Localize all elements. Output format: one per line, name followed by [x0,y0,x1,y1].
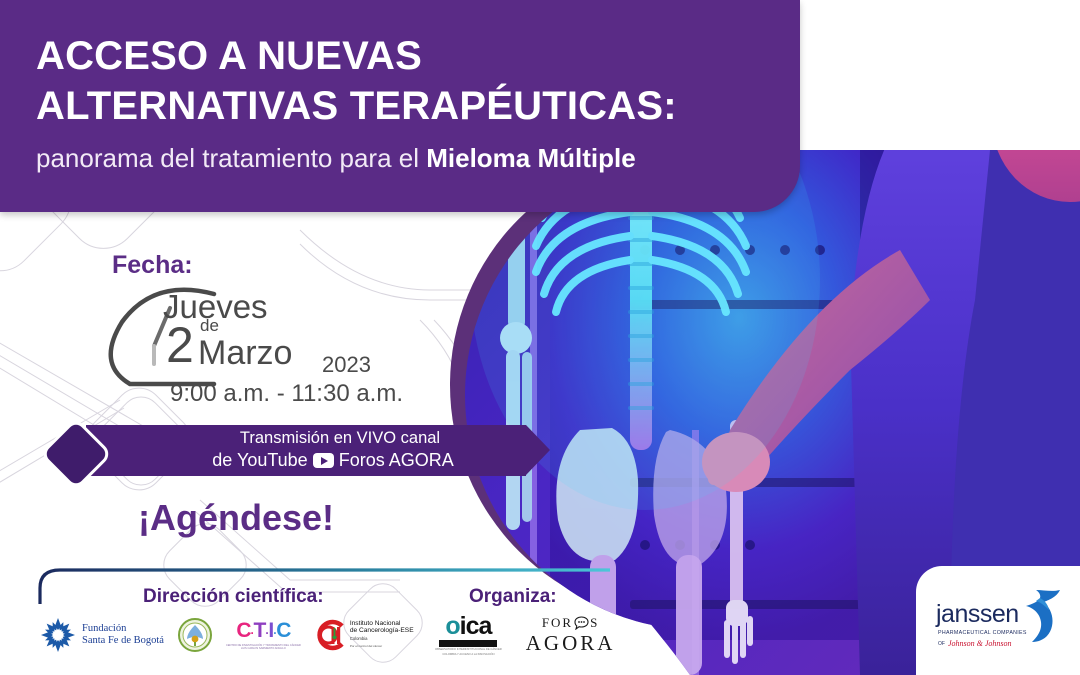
oica-subtitle-1: OBSERVATORIO INTERINSTITUCIONAL DE CÁNCE… [435,648,502,651]
date-year: 2023 [322,352,371,378]
header-banner: ACCESO A NUEVAS ALTERNATIVAS TERAPÉUTICA… [0,0,800,212]
date-day-number: 2 [166,320,194,370]
foros-bottom-word: AGORA [526,631,616,656]
cta-text: ¡Agéndese! [138,497,334,539]
foros-top-word: FOR S [542,615,600,631]
janssen-sponsor-card: janssen PHARMACEUTICAL COMPANIES OF John… [916,566,1080,675]
oica-letters-ica: ica [460,612,492,640]
janssen-bird-icon [1022,588,1064,644]
oica-bar [439,640,497,647]
janssen-parent-line: OF Johnson & Johnson [938,639,1012,648]
fundacion-name: Fundación Santa Fe de Bogotá [82,623,164,647]
janssen-wordmark: janssen [936,600,1019,629]
speech-bubble-icon [574,616,589,630]
janssen-tagline: PHARMACEUTICAL COMPANIES [938,630,1027,636]
inc-line-4: Por el control del cáncer [350,643,414,651]
ctic-letter-c2: C [276,619,290,642]
fundacion-line-1: Fundación [82,623,164,635]
broadcast-line-2: de YouTube Foros AGORA [136,450,530,471]
scientific-direction-label: Dirección científica: [143,586,324,608]
johnson-and-johnson-wordmark: Johnson & Johnson [948,639,1012,648]
youtube-play-icon[interactable] [313,453,334,468]
broadcast-youtube-text: de YouTube [212,450,307,471]
event-flyer: ACCESO A NUEVAS ALTERNATIVAS TERAPÉUTICA… [0,0,1080,675]
subtitle: panorama del tratamiento para el Mieloma… [36,143,636,174]
oica-logo: oica OBSERVATORIO INTERINSTITUCIONAL DE … [435,614,502,656]
oica-wordmark: oica [445,614,491,639]
inc-line-3: Colombia [350,635,414,643]
broadcast-line-1: Transmisión en VIVO canal [150,429,530,448]
inc-line-2: de Cancerología-ESE [350,627,414,635]
inc-line-1: Instituto Nacional [350,620,414,628]
subtitle-emphasis: Mieloma Múltiple [426,143,635,173]
fundacion-line-2: Santa Fe de Bogotá [82,635,164,647]
acho-seal-logo [178,618,212,652]
foros-s: S [590,615,599,631]
date-month: Marzo [198,334,292,373]
scientific-logo-group: Fundación Santa Fe de Bogotá C·T·I·C CEN… [40,608,414,662]
broadcast-channel-name: Foros AGORA [339,450,454,471]
fundacion-santa-fe-de-bogota-logo: Fundación Santa Fe de Bogotá [40,617,164,653]
ctic-letters: C·T·I·C [236,620,290,644]
date-time-range: 9:00 a.m. - 11:30 a.m. [170,380,403,408]
inc-text-block: Instituto Nacional de Cancerología-ESE C… [350,620,414,650]
subtitle-prefix: panorama del tratamiento para el [36,143,426,173]
organizer-logo-group: oica OBSERVATORIO INTERINSTITUCIONAL DE … [435,608,615,662]
date-de: de [200,316,219,336]
ctic-letter-c1: C [236,619,250,642]
title-line-1: ACCESO A NUEVAS [36,34,422,78]
ctic-letter-t: T [254,619,266,642]
oica-letter-o: o [445,612,459,640]
snowflake-icon [40,617,76,653]
date-label: Fecha: [112,251,193,280]
organizer-label: Organiza: [469,586,557,608]
foros-for: FOR [542,615,573,631]
instituto-nacional-cancerologia-logo: Instituto Nacional de Cancerología-ESE C… [315,619,414,651]
janssen-of-label: OF [938,641,945,647]
oica-subtitle-2: COLOMBIA Y ACCESO A LA INNOVACIÓN [442,653,494,656]
foros-agora-logo: FOR S AGORA [526,615,616,656]
inc-mark-icon [315,619,347,651]
title-line-2: ALTERNATIVAS TERAPÉUTICAS: [36,84,677,128]
ctic-logo: C·T·I·C CENTRO DE INVESTIGACIÓN Y TRATAM… [226,620,301,651]
ctic-subtitle-2: LUIS CARLOS SARMIENTO ANGULO [241,647,286,650]
